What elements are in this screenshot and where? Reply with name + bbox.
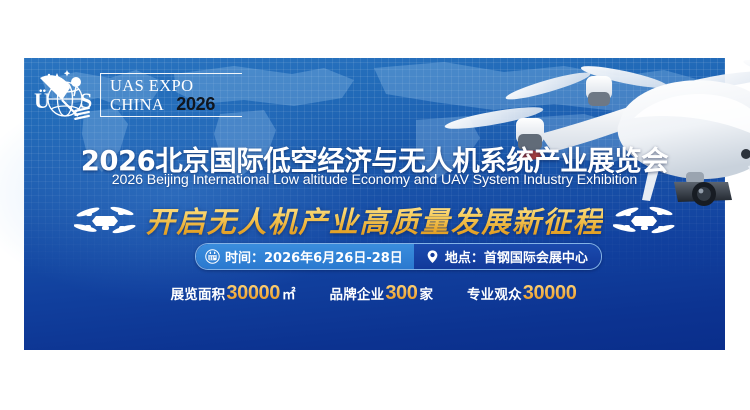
slogan-row: 开启无人机产业高质量发展新征程 xyxy=(24,198,725,242)
globe-satellite-dish-icon: Ü S xyxy=(32,66,98,124)
logo-text: UAS EXPO CHINA 2026 xyxy=(100,73,242,117)
stat-value: 30000 xyxy=(226,282,280,305)
stat-item: 品牌企业 300 家 xyxy=(330,282,433,305)
stat-value: 300 xyxy=(385,282,417,305)
svg-text:Ü: Ü xyxy=(34,88,50,113)
stats-row: 展览面积 30000 ㎡ 品牌企业 300 家 专业观众 30000 xyxy=(24,282,725,305)
title-english: 2026 Beijing International Low altitude … xyxy=(24,172,725,188)
event-place-segment: 地点：首钢国际会展中心 xyxy=(414,244,601,269)
event-time-segment: 时间：2026年6月26日-28日 xyxy=(196,244,414,269)
logo: Ü S UAS EXPO CHINA 2026 xyxy=(32,64,250,126)
logo-year: 2026 xyxy=(176,95,215,114)
event-info-bar: 时间：2026年6月26日-28日 地点：首钢国际会展中心 xyxy=(195,243,602,270)
stat-label: 展览面积 xyxy=(171,283,226,303)
stat-label: 品牌企业 xyxy=(330,283,385,303)
event-time-text: 时间：2026年6月26日-28日 xyxy=(225,247,403,266)
stat-unit: ㎡ xyxy=(282,283,296,303)
page-root: Ü S UAS EXPO CHINA 2026 2026北京国际低空经济与无人机… xyxy=(0,0,750,410)
calendar-icon xyxy=(205,249,220,264)
stat-unit: 家 xyxy=(419,283,433,303)
stat-item: 展览面积 30000 ㎡ xyxy=(171,282,296,305)
logo-line-2: CHINA 2026 xyxy=(110,95,242,114)
drone-silhouette-icon xyxy=(74,203,136,237)
stat-value: 30000 xyxy=(523,282,577,305)
stat-item: 专业观众 30000 xyxy=(467,282,578,305)
drone-silhouette-icon xyxy=(613,203,675,237)
event-place-text: 地点：首钢国际会展中心 xyxy=(445,247,588,266)
exhibition-banner: Ü S UAS EXPO CHINA 2026 2026北京国际低空经济与无人机… xyxy=(24,58,725,350)
svg-text:S: S xyxy=(80,88,92,113)
location-pin-icon xyxy=(425,249,440,264)
stat-label: 专业观众 xyxy=(467,283,522,303)
slogan-text: 开启无人机产业高质量发展新征程 xyxy=(146,199,604,241)
logo-country: CHINA xyxy=(110,95,164,114)
logo-line-1: UAS EXPO xyxy=(110,76,242,95)
